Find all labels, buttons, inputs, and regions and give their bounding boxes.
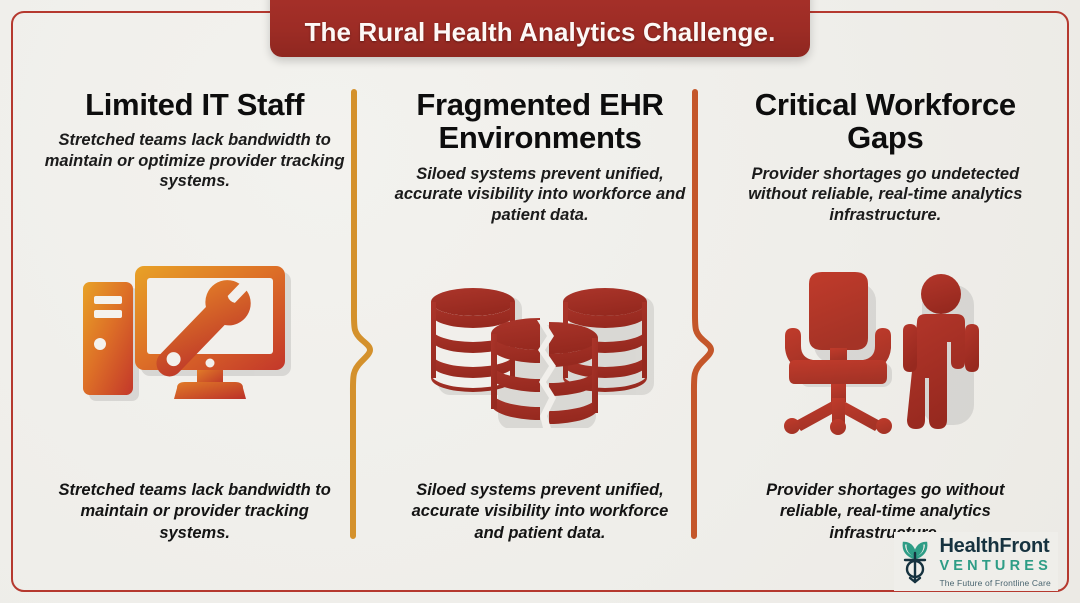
page-title: The Rural Health Analytics Challenge.: [305, 17, 776, 48]
title-banner: The Rural Health Analytics Challenge.: [270, 0, 810, 57]
broken-database-icon: [421, 276, 659, 428]
caduceus-leaf-icon: [898, 540, 932, 584]
column-subtitle: Siloed systems prevent unified, accurate…: [390, 164, 690, 225]
logo-name: HealthFront: [939, 536, 1052, 556]
columns-container: Limited IT Staff Stretched teams lack ba…: [22, 80, 1058, 548]
column-subtitle: Stretched teams lack bandwidth to mainta…: [45, 130, 345, 191]
column-fragmented-ehr: Fragmented EHR Environments Siloed syste…: [367, 80, 712, 548]
column-caption: Stretched teams lack bandwidth to mainta…: [57, 480, 332, 544]
icon-container: [36, 192, 353, 480]
infographic-root: The Rural Health Analytics Challenge. Li…: [0, 0, 1080, 603]
icon-container: [727, 225, 1044, 479]
icon-container: [381, 225, 698, 479]
logo-tagline: The Future of Frontline Care: [939, 579, 1052, 588]
column-subtitle: Provider shortages go undetected without…: [735, 164, 1035, 225]
logo-text: HealthFront VENTURES The Future of Front…: [939, 536, 1052, 587]
column-heading: Fragmented EHR Environments: [381, 88, 698, 155]
column-critical-workforce-gaps: Critical Workforce Gaps Provider shortag…: [713, 80, 1058, 548]
logo-subtitle: VENTURES: [939, 559, 1052, 574]
column-heading: Critical Workforce Gaps: [727, 88, 1044, 155]
brand-logo: HealthFront VENTURES The Future of Front…: [894, 532, 1058, 591]
empty-chair-person-icon: [765, 270, 1005, 435]
computer-wrench-icon: [79, 260, 311, 412]
office-chair: [784, 272, 892, 435]
column-limited-it-staff: Limited IT Staff Stretched teams lack ba…: [22, 80, 367, 548]
column-caption: Siloed systems prevent unified, accurate…: [402, 480, 677, 544]
column-heading: Limited IT Staff: [85, 88, 304, 121]
